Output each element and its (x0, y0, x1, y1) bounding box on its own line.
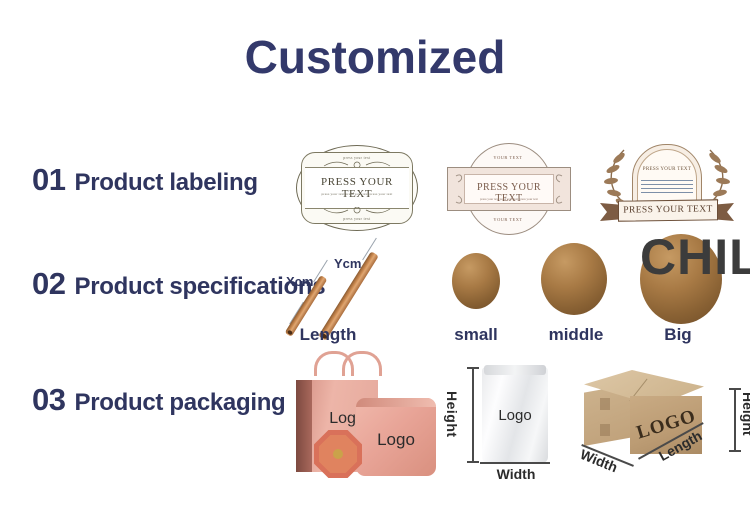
ribbon-banner: PRESS YOUR TEXT (618, 199, 718, 221)
caption-big: Big (650, 325, 706, 345)
carton-height-axis (734, 388, 736, 452)
label1-bottom-text: press your text (296, 217, 418, 221)
carton-hand-hole (600, 398, 610, 410)
label2-scroll-ornament-icon (448, 168, 570, 210)
woven-sack-diagram: Logo Height Width (456, 365, 566, 480)
flourish-ornament-icon (322, 207, 392, 215)
sack-width-label: Width (478, 466, 554, 482)
caption-small: small (440, 325, 512, 345)
page-title: Customized (0, 30, 750, 84)
carton-box-diagram: LOGO Height Length Width (578, 362, 750, 482)
gift-bag-handle (342, 351, 382, 376)
caption-length: Length (283, 325, 373, 345)
carton-hand-hole (600, 424, 610, 436)
gift-bag-side-panel (296, 380, 312, 472)
dimension-label-xcm: Xcm (286, 274, 313, 289)
gift-packaging-set: Logo Logo (292, 368, 448, 480)
wooden-ball-middle (541, 243, 607, 315)
label1-main-text: PRESS YOUR TEXT (305, 176, 409, 200)
label2-top-text: YOUR TEXT (447, 155, 569, 160)
octagonal-gift-box (314, 430, 362, 478)
watermark-text: CHILL (640, 228, 750, 286)
section-number-02: 02 (32, 266, 65, 302)
wooden-ball-small (452, 253, 500, 309)
label-design-circular-band: YOUR TEXT PRESS YOUR TEXT press your tex… (447, 143, 569, 233)
label1-text-box: PRESS YOUR TEXT press your text press yo… (305, 167, 409, 209)
octagonal-box-emblem (333, 449, 343, 459)
section-heading-product-packaging: 03 Product packaging (32, 382, 285, 418)
section-title-01: Product labeling (74, 169, 257, 197)
label3-text-lines (641, 177, 693, 196)
square-gift-box: Logo (356, 398, 436, 476)
sack-width-axis (480, 462, 550, 464)
section-title-03: Product packaging (74, 389, 285, 417)
label3-ribbon-text: PRESS YOUR TEXT (619, 204, 717, 215)
square-box-lid (356, 398, 436, 407)
label2-band: PRESS YOUR TEXT press your text press yo… (447, 167, 571, 211)
sack-top-seam (484, 365, 546, 375)
label-design-ornate-oval: press your text PRESS YOUR TEXT press yo… (296, 145, 418, 231)
label3-ribbon: PRESS YOUR TEXT (600, 198, 734, 222)
sack-logo: Logo (482, 407, 548, 424)
sack-height-label: Height (444, 391, 460, 438)
square-box-logo: Logo (356, 430, 436, 450)
section-number-03: 03 (32, 382, 65, 418)
section-number-01: 01 (32, 162, 65, 198)
label2-bottom-text: YOUR TEXT (447, 217, 569, 222)
caption-middle: middle (532, 325, 620, 345)
carton-height-label: Height (740, 392, 750, 436)
section-heading-product-specifications: 02 Product specifications (32, 266, 325, 302)
dimension-label-ycm: Ycm (334, 256, 361, 271)
label1-sub-text: press your text press your text press yo… (305, 192, 409, 196)
section-heading-product-labeling: 01 Product labeling (32, 162, 258, 198)
sack-height-axis (472, 367, 474, 463)
label3-badge-text: PRESS YOUR TEXT (633, 167, 701, 172)
label-design-laurel-ribbon: PRESS YOUR TEXT PRESS YOUR TEXT (592, 140, 742, 235)
customized-product-infographic: Customized 01 Product labeling press you… (0, 0, 750, 512)
